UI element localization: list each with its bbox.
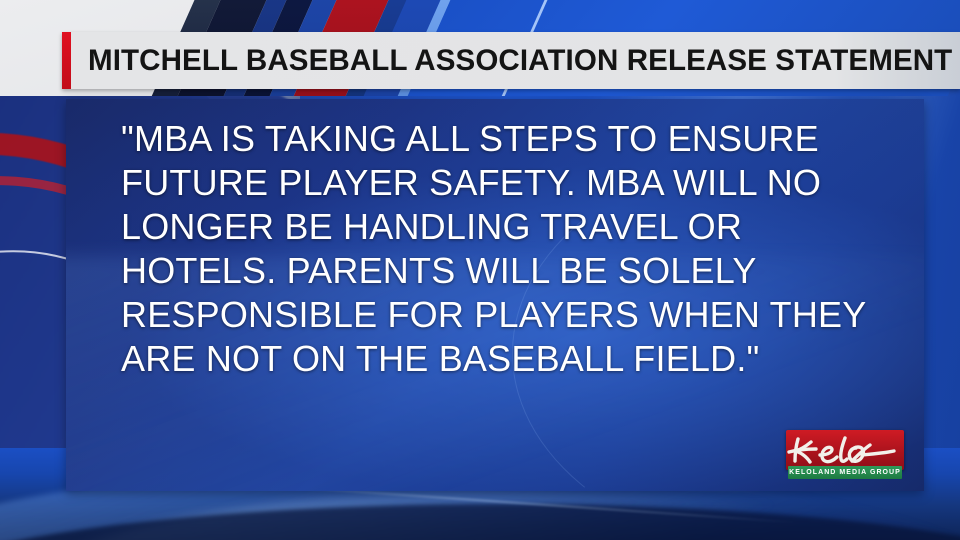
kelo-wordmark-icon	[786, 430, 904, 470]
headline-accent-bar	[62, 32, 71, 89]
broadcast-graphic-screen: MITCHELL BASEBALL ASSOCIATION RELEASE ST…	[0, 0, 960, 540]
kelo-tagline: KELOLAND MEDIA GROUP	[786, 466, 904, 479]
headline-banner: MITCHELL BASEBALL ASSOCIATION RELEASE ST…	[62, 32, 960, 89]
page-title: MITCHELL BASEBALL ASSOCIATION RELEASE ST…	[88, 44, 952, 78]
quote-text: "MBA IS TAKING ALL STEPS TO ENSURE FUTUR…	[121, 117, 904, 381]
kelo-logo: KELOLAND MEDIA GROUP	[786, 430, 904, 484]
